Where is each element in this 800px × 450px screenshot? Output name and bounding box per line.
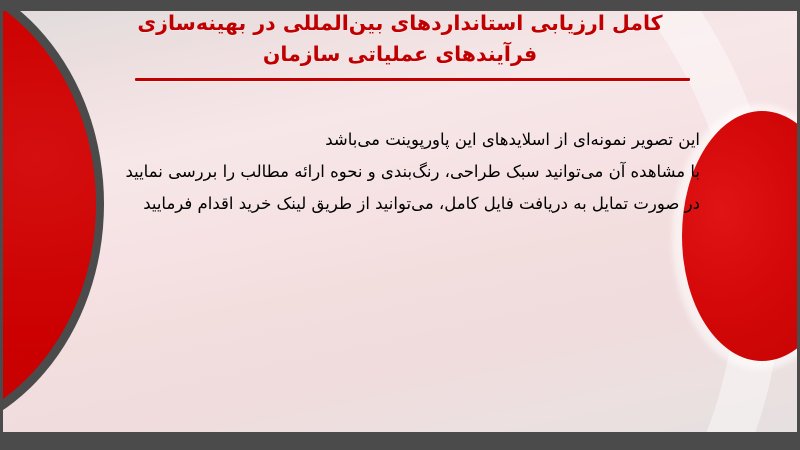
slide-title: کامل ارزیابی استانداردهای بین‌المللی در … [70, 8, 730, 70]
slide-title-line-1: کامل ارزیابی استانداردهای بین‌المللی در … [70, 8, 730, 39]
slide-title-line-2: فرآیندهای عملیاتی سازمان [70, 39, 730, 70]
slide-body-text: این تصویر نمونه‌ای از اسلایدهای این پاور… [100, 124, 700, 220]
slide-content-panel [0, 11, 800, 432]
title-underline-rule [135, 78, 690, 81]
presentation-slide: کامل ارزیابی استانداردهای بین‌المللی در … [0, 0, 800, 450]
slide-body-line-1: این تصویر نمونه‌ای از اسلایدهای این پاور… [100, 124, 700, 156]
slide-frame-top-band [0, 0, 800, 11]
slide-body-line-2: با مشاهده آن می‌توانید سبک طراحی، رنگ‌بن… [100, 156, 700, 188]
slide-frame-bottom-band [0, 432, 800, 450]
slide-body-line-3: در صورت تمایل به دریافت فایل کامل، می‌تو… [100, 188, 700, 220]
slide-frame-left-edge [0, 0, 3, 450]
background-arc-1 [0, 11, 782, 432]
